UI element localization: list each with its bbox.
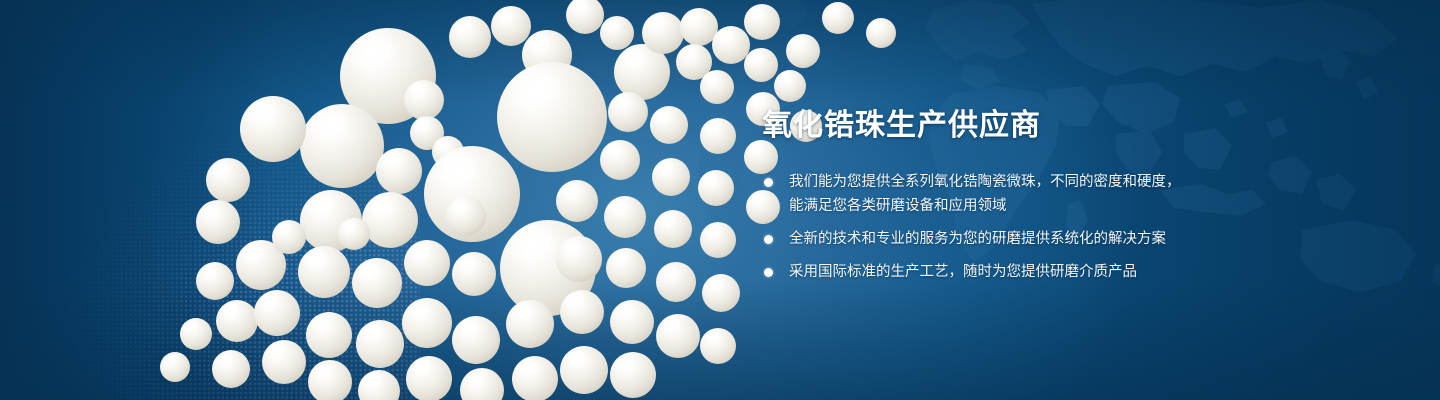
zirconia-bead — [404, 80, 444, 120]
zirconia-bead — [272, 220, 306, 254]
zirconia-bead — [744, 4, 780, 40]
zirconia-bead — [822, 2, 854, 34]
zirconia-bead — [402, 298, 452, 348]
zirconia-bead — [352, 258, 402, 308]
zirconia-bead — [376, 148, 422, 194]
zirconia-bead — [460, 368, 504, 400]
zirconia-bead — [216, 300, 258, 342]
zirconia-bead — [566, 0, 604, 34]
zirconia-bead — [212, 350, 250, 388]
page-title: 氧化锆珠生产供应商 — [762, 106, 1322, 146]
bullet-dot-icon — [764, 268, 773, 277]
bullet-dot-icon — [764, 235, 773, 244]
feature-bullet-line: 能满足您各类研磨设备和应用领域 — [789, 194, 1322, 218]
zirconia-bead — [642, 12, 684, 54]
zirconia-bead — [560, 346, 608, 394]
zirconia-bead — [600, 140, 640, 180]
zirconia-bead — [610, 300, 654, 344]
zirconia-bead — [702, 274, 740, 312]
feature-bullet-line: 我们能为您提供全系列氧化锆陶瓷微珠，不同的密度和硬度， — [789, 170, 1322, 194]
zirconia-bead — [600, 16, 634, 50]
zirconia-bead — [298, 246, 350, 298]
feature-bullet-line: 全新的技术和专业的服务为您的研磨提供系统化的解决方案 — [789, 227, 1322, 251]
zirconia-bead — [512, 356, 558, 400]
zirconia-bead — [308, 360, 352, 400]
zirconia-bead — [786, 34, 820, 68]
zirconia-bead — [449, 16, 491, 58]
zirconia-bead — [866, 18, 896, 48]
zirconia-bead — [358, 370, 400, 400]
zirconia-bead — [404, 240, 450, 286]
zirconia-bead — [452, 316, 500, 364]
zirconia-bead — [700, 118, 736, 154]
zirconia-bead — [556, 236, 602, 282]
feature-bullet-item: 全新的技术和专业的服务为您的研磨提供系统化的解决方案 — [762, 227, 1322, 251]
zirconia-bead — [356, 320, 404, 368]
zirconia-bead — [452, 252, 496, 296]
zirconia-bead — [700, 222, 736, 258]
zirconia-bead — [240, 96, 306, 162]
feature-bullet-line: 采用国际标准的生产工艺，随时为您提供研磨介质产品 — [789, 260, 1322, 284]
zirconia-bead — [606, 248, 646, 288]
zirconia-bead — [650, 106, 688, 144]
zirconia-bead — [196, 200, 240, 244]
feature-bullet-list: 我们能为您提供全系列氧化锆陶瓷微珠，不同的密度和硬度，能满足您各类研磨设备和应用… — [762, 170, 1322, 284]
zirconia-bead — [506, 300, 554, 348]
zirconia-bead — [362, 192, 418, 248]
zirconia-bead — [698, 170, 734, 206]
zirconia-bead — [560, 290, 604, 334]
zirconia-bead — [406, 356, 452, 400]
zirconia-bead — [254, 290, 300, 336]
bullet-dot-icon — [764, 178, 773, 187]
zirconia-bead — [652, 158, 690, 196]
feature-bullet-item: 我们能为您提供全系列氧化锆陶瓷微珠，不同的密度和硬度，能满足您各类研磨设备和应用… — [762, 170, 1322, 218]
zirconia-bead — [700, 70, 734, 104]
zirconia-bead — [744, 48, 778, 82]
hero-banner: 氧化锆珠生产供应商 我们能为您提供全系列氧化锆陶瓷微珠，不同的密度和硬度，能满足… — [0, 0, 1440, 400]
feature-bullet-item: 采用国际标准的生产工艺，随时为您提供研磨介质产品 — [762, 260, 1322, 284]
zirconia-bead — [556, 180, 598, 222]
zirconia-bead — [774, 70, 806, 102]
zirconia-bead — [608, 92, 648, 132]
zirconia-bead — [300, 104, 384, 188]
zirconia-bead — [262, 340, 306, 384]
zirconia-bead — [306, 312, 352, 358]
banner-copy: 氧化锆珠生产供应商 我们能为您提供全系列氧化锆陶瓷微珠，不同的密度和硬度，能满足… — [762, 106, 1322, 284]
zirconia-bead — [656, 262, 696, 302]
zirconia-bead — [604, 196, 646, 238]
zirconia-bead — [338, 218, 370, 250]
zirconia-bead — [497, 62, 607, 172]
zirconia-bead — [700, 328, 736, 364]
zirconia-bead — [180, 318, 212, 350]
zirconia-bead — [654, 210, 692, 248]
zirconia-bead — [160, 352, 190, 382]
zirconia-bead — [196, 262, 234, 300]
zirconia-bead — [206, 158, 250, 202]
zirconia-bead — [656, 314, 700, 358]
zirconia-bead — [446, 196, 486, 236]
zirconia-bead — [610, 352, 656, 398]
zirconia-bead — [491, 6, 531, 46]
